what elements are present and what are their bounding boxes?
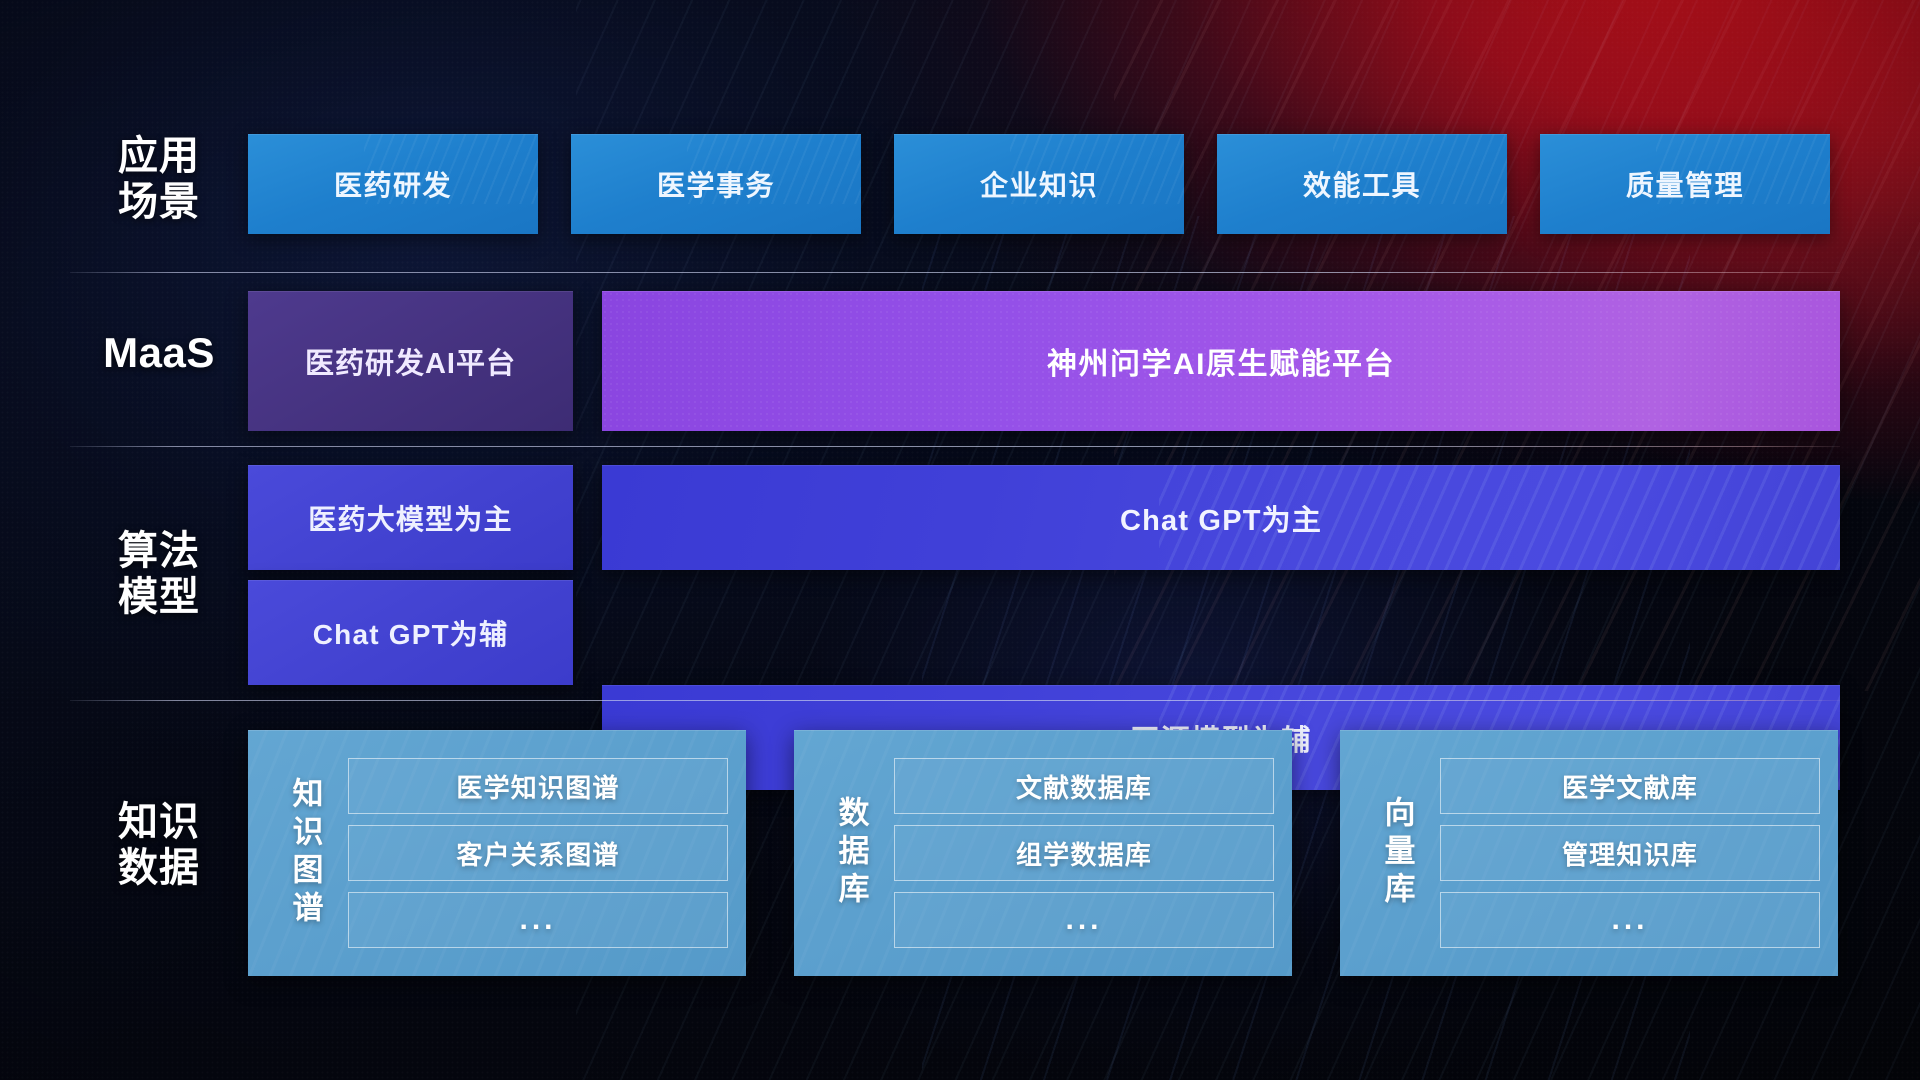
maas-box-shenzhou-wenxue-platform[interactable]: 神州问学AI原生赋能平台 — [602, 291, 1840, 431]
row-label-line-2: 数据 — [70, 846, 248, 892]
row-label-line-1: 应用 — [70, 134, 248, 180]
row-algorithm-models: 算法 模型 医药大模型为主 Chat GPT为主 Chat GPT为辅 开源模型… — [0, 465, 1920, 685]
row-label-line-1: 知识 — [70, 800, 248, 846]
app-box-efficiency-tools[interactable]: 效能工具 — [1217, 134, 1507, 234]
knowledge-item-medical-knowledge-graph[interactable]: 医学知识图谱 — [348, 758, 728, 814]
row-label-line-1: 算法 — [70, 529, 248, 575]
knowledge-item-list: 文献数据库 组学数据库 ... — [894, 744, 1274, 962]
app-box-enterprise-knowledge[interactable]: 企业知识 — [894, 134, 1184, 234]
row-application-scenarios: 应用 场景 医药研发 医学事务 企业知识 效能工具 质量管理 — [0, 134, 1920, 234]
algo-box-pharma-llm-primary[interactable]: 医药大模型为主 — [248, 465, 573, 570]
knowledge-panel-list: 知识图谱 医学知识图谱 客户关系图谱 ... 数据库 文献数据库 组学数据库 .… — [248, 730, 1838, 976]
knowledge-panel-title-knowledge-graph: 知识图谱 — [262, 744, 348, 962]
application-scenario-list: 医药研发 医学事务 企业知识 效能工具 质量管理 — [248, 134, 1830, 234]
knowledge-item-more-ellipsis[interactable]: ... — [894, 892, 1274, 948]
row-knowledge-data: 知识 数据 知识图谱 医学知识图谱 客户关系图谱 ... 数据库 文献数据库 组… — [0, 730, 1920, 976]
knowledge-panel-knowledge-graph[interactable]: 知识图谱 医学知识图谱 客户关系图谱 ... — [248, 730, 746, 976]
knowledge-item-customer-relation-graph[interactable]: 客户关系图谱 — [348, 825, 728, 881]
knowledge-item-list: 医学知识图谱 客户关系图谱 ... — [348, 744, 728, 962]
knowledge-item-more-ellipsis[interactable]: ... — [1440, 892, 1820, 948]
row-label-application-scenarios: 应用 场景 — [70, 134, 248, 225]
algo-box-chatgpt-secondary[interactable]: Chat GPT为辅 — [248, 580, 573, 685]
row-label-knowledge-data: 知识 数据 — [70, 800, 248, 891]
maas-box-pharma-ai-platform[interactable]: 医药研发AI平台 — [248, 291, 573, 431]
row-maas: MaaS 医药研发AI平台 神州问学AI原生赋能平台 — [0, 291, 1920, 431]
divider-maas-algo — [70, 446, 1840, 447]
algo-box-chatgpt-primary[interactable]: Chat GPT为主 — [602, 465, 1840, 570]
app-box-pharma-rd[interactable]: 医药研发 — [248, 134, 538, 234]
row-label-algorithm-models: 算法 模型 — [70, 529, 248, 620]
knowledge-panel-vector-store[interactable]: 向量库 医学文献库 管理知识库 ... — [1340, 730, 1838, 976]
knowledge-item-medical-literature-store[interactable]: 医学文献库 — [1440, 758, 1820, 814]
knowledge-item-list: 医学文献库 管理知识库 ... — [1440, 744, 1820, 962]
knowledge-panel-database[interactable]: 数据库 文献数据库 组学数据库 ... — [794, 730, 1292, 976]
divider-algo-knowledge — [70, 700, 1840, 701]
app-box-quality-management[interactable]: 质量管理 — [1540, 134, 1830, 234]
divider-apps-maas — [70, 272, 1840, 273]
row-label-line-2: 模型 — [70, 575, 248, 621]
architecture-stack-diagram: 应用 场景 医药研发 医学事务 企业知识 效能工具 质量管理 MaaS 医药研发… — [0, 0, 1920, 1080]
row-label-maas: MaaS — [70, 329, 248, 377]
knowledge-item-literature-database[interactable]: 文献数据库 — [894, 758, 1274, 814]
knowledge-panel-title-database: 数据库 — [808, 744, 894, 962]
row-label-line-2: 场景 — [70, 180, 248, 226]
knowledge-item-omics-database[interactable]: 组学数据库 — [894, 825, 1274, 881]
app-box-medical-affairs[interactable]: 医学事务 — [571, 134, 861, 234]
knowledge-item-more-ellipsis[interactable]: ... — [348, 892, 728, 948]
knowledge-panel-title-vector-store: 向量库 — [1354, 744, 1440, 962]
knowledge-item-management-knowledge-store[interactable]: 管理知识库 — [1440, 825, 1820, 881]
